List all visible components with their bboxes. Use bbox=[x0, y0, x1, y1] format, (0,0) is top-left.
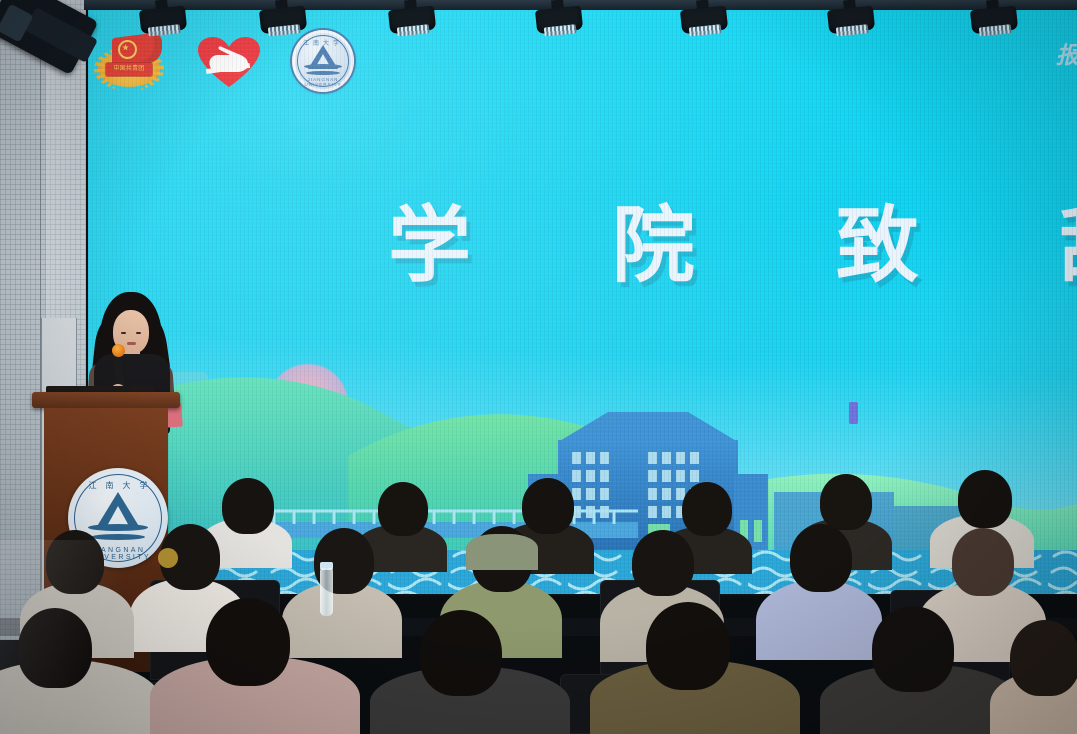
audience-head bbox=[420, 610, 502, 696]
audience-head bbox=[820, 474, 872, 530]
lectern-top bbox=[32, 392, 180, 408]
audience-head bbox=[522, 478, 574, 534]
audience-cap bbox=[466, 534, 538, 570]
hair-clip bbox=[158, 548, 178, 568]
audience-shoulders bbox=[756, 580, 882, 660]
slide-title: 学 院 致 辞 bbox=[388, 204, 1077, 287]
water-bottle bbox=[320, 568, 333, 616]
audience-head bbox=[222, 478, 274, 534]
stage-light bbox=[969, 0, 1019, 42]
slide-logo-row: 中国共青团 江南大学 JIANGNAN UNIVERSITY bbox=[98, 30, 354, 92]
jnu-badge-en-label: JIANGNAN UNIVERSITY bbox=[292, 77, 354, 87]
audience-head bbox=[632, 530, 694, 596]
audience-head bbox=[790, 524, 852, 592]
stage-light bbox=[826, 0, 876, 42]
audience-head bbox=[958, 470, 1012, 528]
seated-audience bbox=[0, 430, 1077, 734]
stage-light bbox=[138, 0, 188, 42]
audience-head bbox=[206, 598, 290, 686]
stage-light bbox=[679, 0, 729, 42]
stage-light bbox=[387, 0, 437, 42]
stage-light bbox=[258, 0, 308, 42]
screenshot-root: 中国共青团 江南大学 JIANGNAN UNIVERSITY 学 院 致 辞 报 bbox=[0, 0, 1077, 734]
audience-head bbox=[46, 530, 104, 594]
cyl-banner-label: 中国共青团 bbox=[106, 63, 152, 76]
microphone-head bbox=[112, 344, 125, 357]
stage-light bbox=[534, 0, 584, 42]
volunteer-service-heart-logo bbox=[196, 33, 264, 89]
audience-head bbox=[646, 602, 730, 690]
audience-head bbox=[682, 482, 732, 536]
audience-head bbox=[952, 528, 1014, 596]
purple-accent-mark bbox=[849, 402, 858, 424]
audience-head bbox=[378, 482, 428, 536]
communist-youth-league-emblem: 中国共青团 bbox=[98, 33, 168, 89]
audience-head bbox=[1010, 620, 1077, 696]
audience-head bbox=[872, 606, 954, 692]
jiangnan-university-badge: 江南大学 JIANGNAN UNIVERSITY bbox=[292, 30, 354, 92]
slide-corner-note: 报 bbox=[1056, 36, 1077, 70]
audience-head bbox=[18, 608, 92, 688]
